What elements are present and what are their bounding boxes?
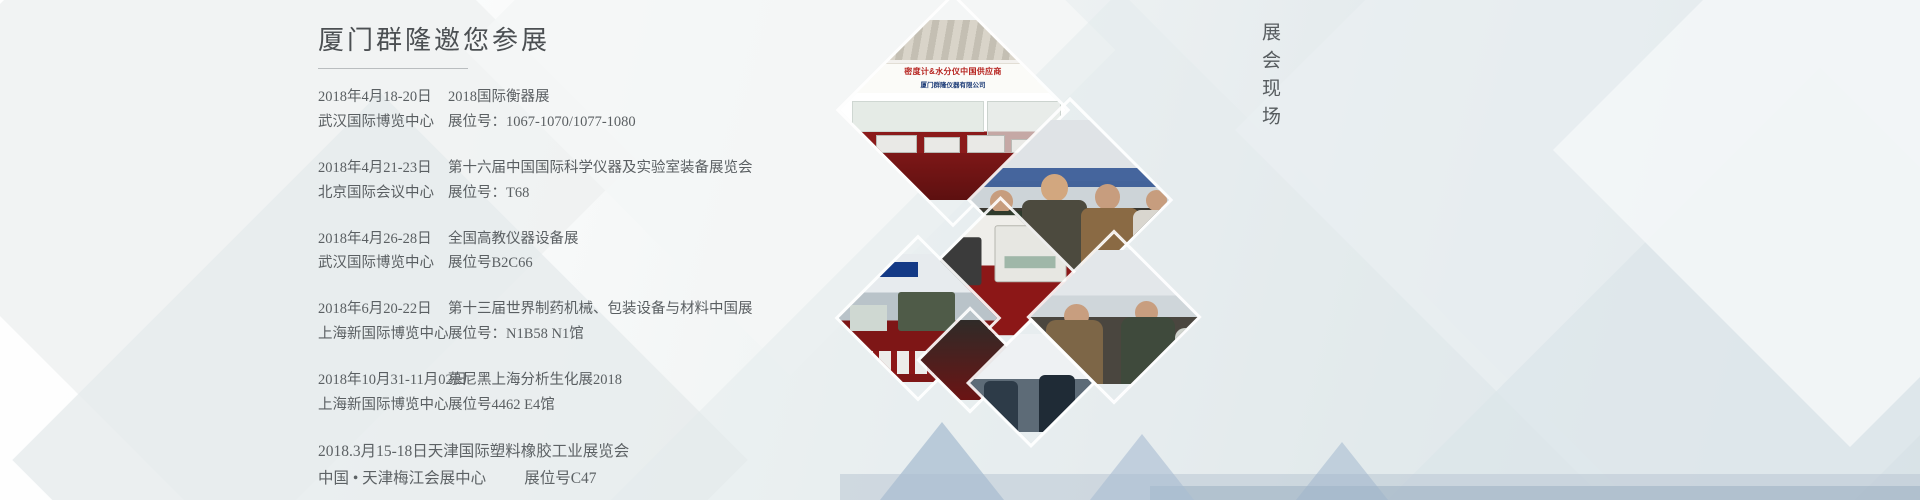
banner-canvas: 厦门群隆邀您参展 2018年4月18-20日 2018国际衡器展 武汉国际博览中… <box>0 0 1920 500</box>
event-booth: 展位号：T68 <box>448 181 529 206</box>
event-booth: 展位号：1067-1070/1077-1080 <box>448 110 636 135</box>
event-name: 全国高教仪器设备展 <box>448 227 579 252</box>
event-name: 2018国际衡器展 <box>448 85 550 110</box>
event-date: 2018年10月31-11月02日 <box>318 368 448 393</box>
event-date: 2018年4月18-20日 <box>318 85 448 110</box>
event-venue: 武汉国际博览中心 <box>318 251 448 276</box>
photo-collage: 密度计&水分仪中国供应商 厦门群隆仪器有限公司 <box>840 0 1260 500</box>
event-name: 第十三届世界制药机械、包装设备与材料中国展 <box>448 297 753 322</box>
booth-banner-line1: 密度计&水分仪中国供应商 <box>847 66 1058 77</box>
title-underline <box>318 68 468 69</box>
event-booth: 展位号B2C66 <box>448 251 533 276</box>
event-venue: 上海新国际博览中心 <box>318 393 448 418</box>
event-booth: 展位号4462 E4馆 <box>448 393 555 418</box>
bottom-band-dark <box>1150 486 1920 500</box>
event-booth: 展位号：N1B58 N1馆 <box>448 322 584 347</box>
event-venue: 中国 • 天津梅江会展中心 <box>318 466 486 493</box>
event-date: 2018年4月21-23日 <box>318 156 448 181</box>
event-venue: 北京国际会议中心 <box>318 181 448 206</box>
event-venue: 上海新国际博览中心 <box>318 322 448 347</box>
event-name: 第十六届中国国际科学仪器及实验室装备展览会 <box>448 156 753 181</box>
vertical-label-text: 展会现场 <box>1256 22 1283 134</box>
event-name: 慕尼黑上海分析生化展2018 <box>448 368 622 393</box>
event-booth: 展位号C47 <box>524 466 596 493</box>
bg-diamond-7 <box>1553 0 1920 447</box>
event-venue: 武汉国际博览中心 <box>318 110 448 135</box>
event-date: 2018年4月26-28日 <box>318 227 448 252</box>
booth-banner-line2: 厦门群隆仪器有限公司 <box>847 79 1058 89</box>
event-date: 2018年6月20-22日 <box>318 297 448 322</box>
event-date: 2018.3月15-18日天津国际塑料橡胶工业展览会 <box>318 439 629 466</box>
bg-diamond-6 <box>1367 67 1920 500</box>
